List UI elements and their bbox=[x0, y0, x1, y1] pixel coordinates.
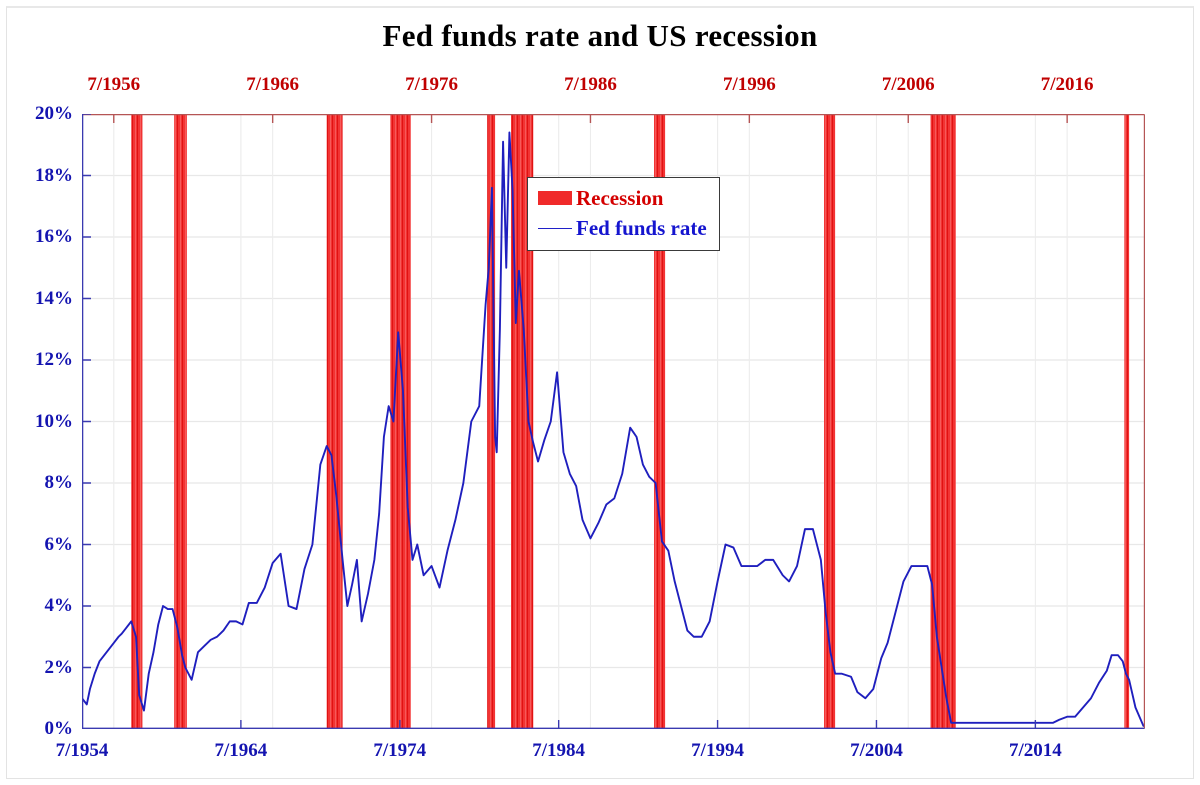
y-axis-tick-label: 12% bbox=[3, 349, 73, 371]
bottom-axis-tick-label: 7/1994 bbox=[691, 740, 744, 762]
y-axis-tick-label: 0% bbox=[3, 718, 73, 740]
y-axis-tick-label: 10% bbox=[3, 411, 73, 433]
chart-page: Fed funds rate and US recession bbox=[0, 0, 1200, 785]
top-axis-tick-label: 7/1996 bbox=[723, 74, 776, 96]
top-axis-tick-label: 7/2016 bbox=[1041, 74, 1094, 96]
series-line-icon bbox=[538, 228, 572, 229]
top-axis-tick-label: 7/1966 bbox=[246, 74, 299, 96]
top-axis-tick-label: 7/1956 bbox=[87, 74, 140, 96]
top-axis-tick-label: 7/1986 bbox=[564, 74, 617, 96]
bottom-axis-tick-label: 7/1964 bbox=[215, 740, 268, 762]
y-axis-tick-label: 6% bbox=[3, 534, 73, 556]
y-axis-tick-label: 2% bbox=[3, 657, 73, 679]
y-axis-tick-label: 18% bbox=[3, 165, 73, 187]
y-axis-tick-label: 8% bbox=[3, 472, 73, 494]
recession-swatch-icon bbox=[538, 191, 572, 205]
y-axis-tick-label: 4% bbox=[3, 595, 73, 617]
top-axis-tick-label: 7/1976 bbox=[405, 74, 458, 96]
legend-label-series: Fed funds rate bbox=[576, 216, 707, 241]
top-axis-tick-label: 7/2006 bbox=[882, 74, 935, 96]
legend-row-recession: Recession bbox=[538, 183, 707, 213]
y-axis-tick-label: 16% bbox=[3, 226, 73, 248]
bottom-axis-tick-label: 7/1984 bbox=[532, 740, 585, 762]
page-title: Fed funds rate and US recession bbox=[0, 18, 1200, 54]
bottom-axis-tick-label: 7/1954 bbox=[56, 740, 109, 762]
bottom-axis-tick-label: 7/2014 bbox=[1009, 740, 1062, 762]
bottom-axis-tick-label: 7/2004 bbox=[850, 740, 903, 762]
y-axis-tick-label: 20% bbox=[3, 103, 73, 125]
y-axis-tick-label: 14% bbox=[3, 288, 73, 310]
legend-label-recession: Recession bbox=[576, 186, 664, 211]
legend-row-series: Fed funds rate bbox=[538, 213, 707, 243]
legend: Recession Fed funds rate bbox=[527, 177, 720, 251]
bottom-axis-tick-label: 7/1974 bbox=[373, 740, 426, 762]
